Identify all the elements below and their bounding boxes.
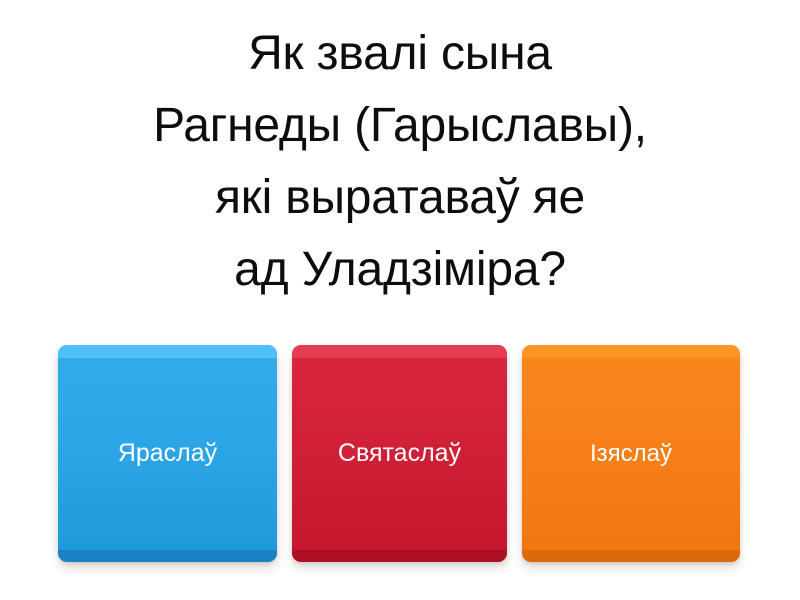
question-text: Як звалі сына Рагнеды (Гарыславы), які в… <box>153 18 647 306</box>
quiz-slide: Як звалі сына Рагнеды (Гарыславы), які в… <box>0 0 800 600</box>
answer-options-row: Яраслаў Святаслаў Ізяслаў <box>58 345 742 565</box>
answer-option-3[interactable]: Ізяслаў <box>522 345 740 562</box>
answer-option-2[interactable]: Святаслаў <box>292 345 507 562</box>
answer-option-2-label: Святаслаў <box>330 441 469 466</box>
answer-option-1-label: Яраслаў <box>110 441 225 466</box>
answer-option-1[interactable]: Яраслаў <box>58 345 277 562</box>
answer-option-3-label: Ізяслаў <box>582 442 680 466</box>
question-block: Як звалі сына Рагнеды (Гарыславы), які в… <box>0 0 800 306</box>
